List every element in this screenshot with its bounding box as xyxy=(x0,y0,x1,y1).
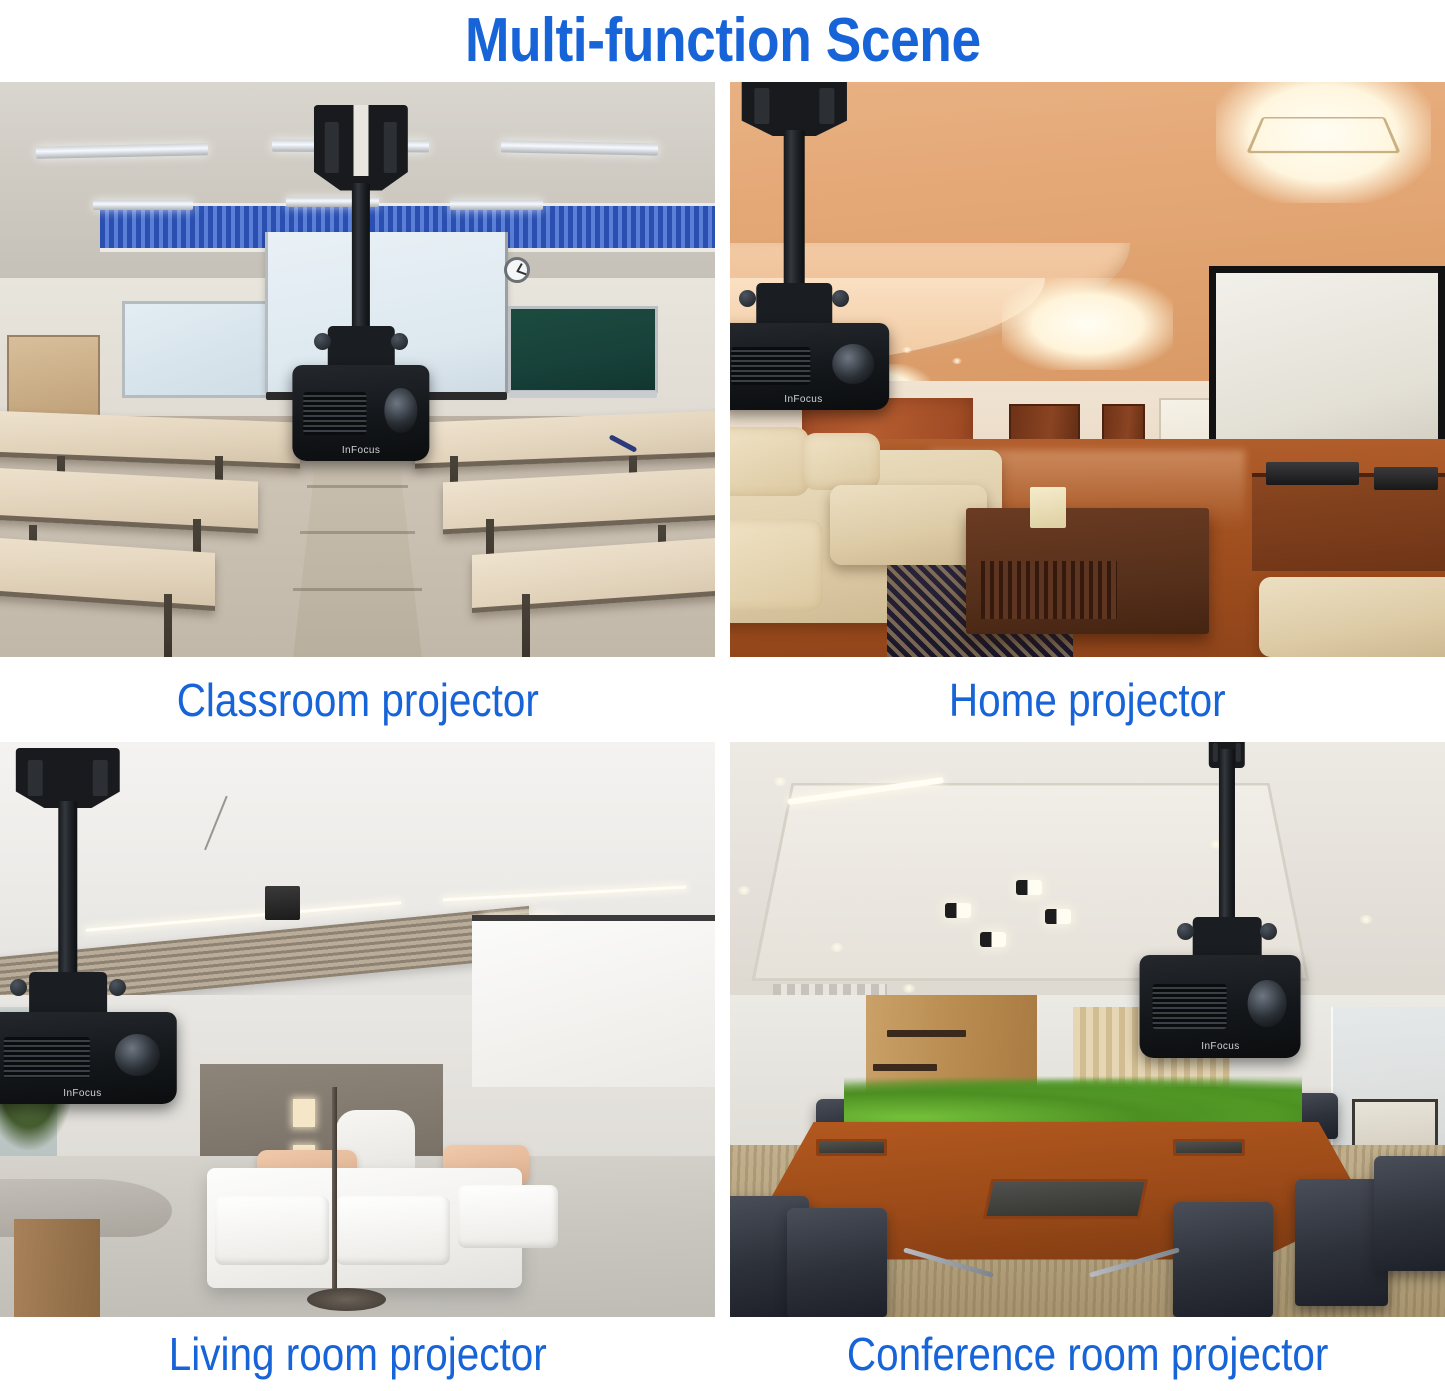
desk-leg xyxy=(522,594,530,657)
mount-drop-pole xyxy=(352,183,370,340)
sofa-seat-cushion xyxy=(336,1196,450,1265)
desk-leg xyxy=(164,594,172,657)
recessed-downlight xyxy=(902,984,916,993)
armchair xyxy=(1259,577,1445,658)
mount-plate-notch xyxy=(354,105,369,176)
conference-chair xyxy=(787,1208,887,1317)
wall-accent-strip xyxy=(887,1030,966,1037)
mount-adjust-knob xyxy=(391,333,408,350)
conference-chair xyxy=(1173,1202,1273,1317)
coffee-table xyxy=(966,508,1209,635)
chandelier-light xyxy=(1216,82,1431,203)
caption-home: Home projector xyxy=(949,677,1226,723)
recessed-downlight xyxy=(773,777,787,786)
conference-room-photo-canvas: InFocus xyxy=(730,742,1445,1317)
table-inset-panel xyxy=(816,1139,888,1156)
mount-adjust-knob xyxy=(739,290,756,307)
table-inset-panel xyxy=(983,1179,1149,1219)
ceiling-mount-living-room: InFocus xyxy=(7,748,129,1105)
mount-adjust-knob xyxy=(1177,923,1194,940)
projector-vent xyxy=(303,392,366,434)
ceiling-mount-home: InFocus xyxy=(737,82,851,410)
chandelier-frame xyxy=(1246,117,1401,153)
caption-cell-conference-room: Conference room projector xyxy=(730,1317,1445,1391)
square-ceiling-light xyxy=(1016,880,1042,895)
sofa-chaise xyxy=(830,485,987,566)
wall-accent-strip xyxy=(873,1064,937,1071)
projector-lens xyxy=(833,344,874,384)
tissue-box xyxy=(1030,487,1066,527)
whiteboard xyxy=(122,301,279,399)
projector-home: InFocus xyxy=(730,323,889,410)
projector-brand-label: InFocus xyxy=(1140,1041,1301,1052)
mount-bracket-plate xyxy=(742,82,847,136)
recessed-downlight xyxy=(737,886,751,895)
sofa-pillow xyxy=(730,427,809,496)
fluorescent-light xyxy=(450,200,543,210)
projector-brand-label: InFocus xyxy=(0,1088,177,1099)
caption-conference-room: Conference room projector xyxy=(847,1331,1328,1377)
home-photo-canvas: InFocus xyxy=(730,82,1445,657)
square-ceiling-light xyxy=(1045,909,1071,924)
ceiling-mount-classroom: InFocus xyxy=(307,105,414,462)
infographic-page: Multi-function Scene xyxy=(0,0,1445,1391)
scene-photo-living-room: InFocus xyxy=(0,742,715,1317)
projector-conference: InFocus xyxy=(1140,955,1301,1058)
sofa-pillow xyxy=(802,433,881,491)
mount-adjust-knob xyxy=(832,290,849,307)
mount-adjust-knob xyxy=(109,979,126,996)
av-receiver xyxy=(1266,462,1359,485)
projector-vent xyxy=(3,1037,90,1078)
projection-screen xyxy=(472,915,715,1088)
aisle-step xyxy=(307,485,407,488)
ceiling-mount-conference: InFocus xyxy=(1173,742,1280,1058)
projector-vent xyxy=(731,347,810,385)
fluorescent-light xyxy=(93,200,193,210)
aisle-step xyxy=(293,588,422,591)
mount-drop-pole xyxy=(1219,749,1235,929)
mount-adjust-knob xyxy=(314,333,331,350)
conference-chair xyxy=(1374,1156,1445,1271)
mount-bracket-plate xyxy=(16,748,121,809)
scene-photo-home: InFocus xyxy=(730,82,1445,657)
living-room-photo-canvas: InFocus xyxy=(0,742,715,1317)
scene-photo-conference-room: InFocus xyxy=(730,742,1445,1317)
recessed-downlight xyxy=(1359,915,1373,924)
floor-lamp-pole xyxy=(332,1087,337,1306)
table-slat-panel xyxy=(981,561,1117,619)
table-inset-panel xyxy=(1173,1139,1245,1156)
projector-brand-label: InFocus xyxy=(292,445,429,456)
caption-cell-home: Home projector xyxy=(730,657,1445,742)
projector-lens xyxy=(384,388,417,432)
recessed-spotlight xyxy=(952,358,962,364)
sofa-seat-cushion xyxy=(215,1196,329,1265)
scene-photo-classroom: InFocus xyxy=(0,82,715,657)
projector-lens xyxy=(115,1034,160,1077)
classroom-photo-canvas: InFocus xyxy=(0,82,715,657)
mount-adjust-knob xyxy=(1260,923,1277,940)
av-receiver xyxy=(1374,467,1438,490)
scene-grid: InFocus xyxy=(0,82,1445,1391)
chalkboard xyxy=(508,306,658,392)
mount-drop-pole xyxy=(784,130,805,297)
caption-cell-classroom: Classroom projector xyxy=(0,657,715,742)
title-bar: Multi-function Scene xyxy=(0,0,1445,82)
square-ceiling-light xyxy=(945,903,971,918)
projector-brand-label: InFocus xyxy=(730,394,889,405)
projector-living-room: InFocus xyxy=(0,1012,177,1105)
caption-classroom: Classroom projector xyxy=(176,677,538,723)
projector-lens xyxy=(1248,980,1287,1027)
aisle-step xyxy=(300,531,414,534)
flush-ceiling-light xyxy=(1002,278,1174,370)
caption-cell-living-room: Living room projector xyxy=(0,1317,715,1391)
page-title: Multi-function Scene xyxy=(465,10,981,72)
caption-living-room: Living room projector xyxy=(169,1331,547,1377)
square-ceiling-light xyxy=(980,932,1006,947)
sofa-seat-cushion xyxy=(458,1185,558,1248)
projector-vent xyxy=(1153,984,1227,1029)
recessed-spotlight xyxy=(902,347,912,353)
mount-drop-pole xyxy=(58,801,77,986)
projector-classroom: InFocus xyxy=(292,365,429,461)
mount-adjust-knob xyxy=(10,979,27,996)
sofa-cushion xyxy=(730,519,823,611)
ceiling-projector-mount-secondary xyxy=(265,886,301,921)
cabinet-accent-light xyxy=(293,1099,314,1128)
dining-table-leg xyxy=(14,1219,100,1317)
classroom-cabinet xyxy=(7,335,100,421)
projection-screen xyxy=(1209,266,1445,456)
